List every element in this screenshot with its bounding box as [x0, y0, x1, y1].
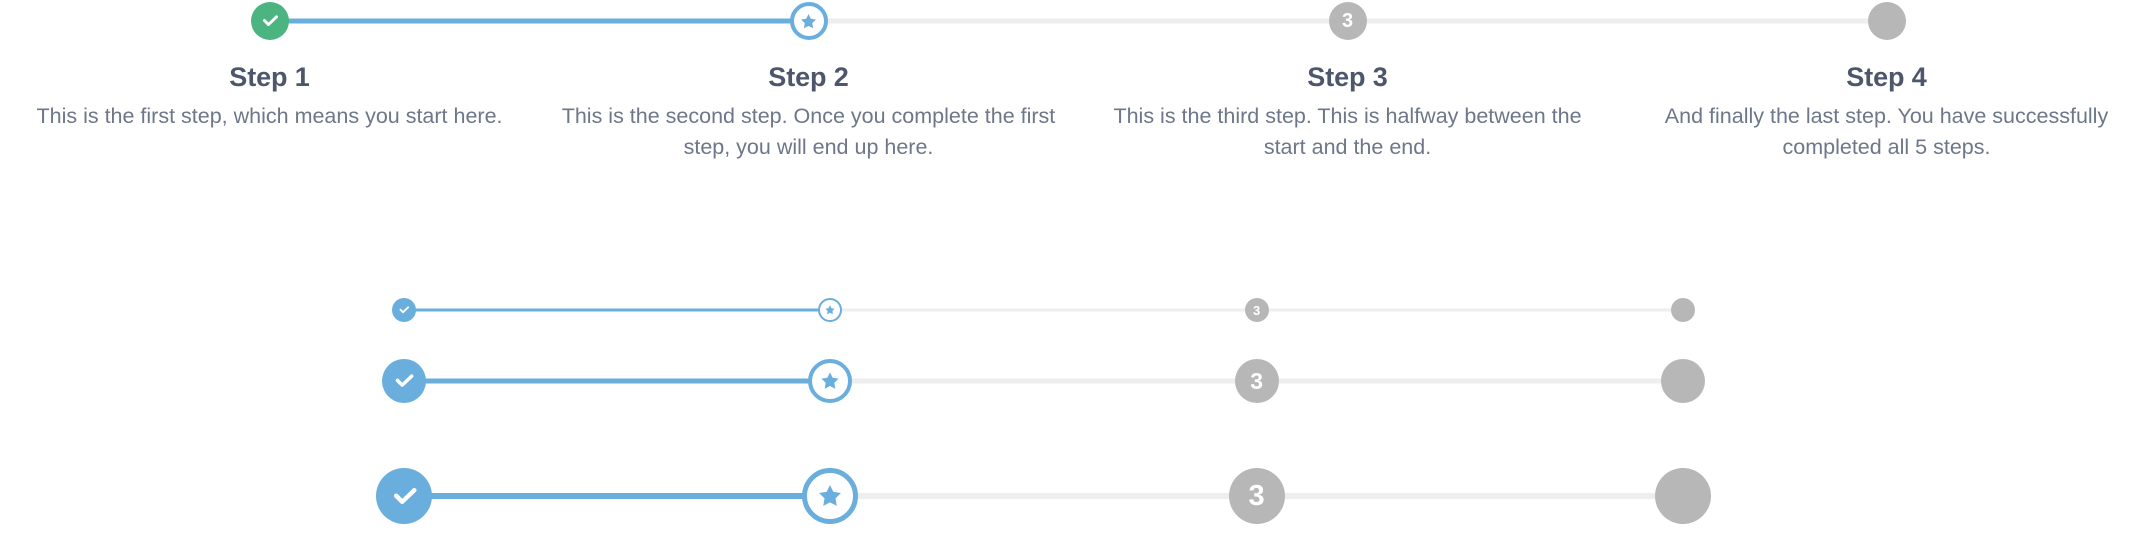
connector-right — [1257, 493, 1470, 499]
connector-left — [1044, 493, 1257, 499]
step-description: This is the first step, which means you … — [14, 101, 525, 132]
step-marker-row — [1470, 466, 1896, 526]
step-number-label: 3 — [1342, 11, 1353, 31]
step-item-1[interactable] — [191, 297, 617, 323]
step-description: This is the third step. This is halfway … — [1092, 101, 1603, 162]
step-labels: Step 2 This is the second step. Once you… — [539, 42, 1078, 162]
check-icon — [397, 303, 411, 317]
step-marker-complete[interactable] — [376, 468, 432, 524]
step-labels: Step 4 And finally the last step. You ha… — [1617, 42, 2156, 162]
connector-left — [1617, 19, 1887, 24]
step-marker-row — [617, 466, 1043, 526]
step-marker-row — [1470, 297, 1896, 323]
connector-right — [1257, 379, 1470, 384]
connector-left — [1470, 379, 1683, 384]
check-icon — [259, 10, 281, 32]
step-description: This is the second step. Once you comple… — [553, 101, 1064, 162]
xs-stepper: 3 — [191, 297, 1896, 323]
step-number-label: 3 — [1250, 370, 1263, 393]
step-item-1[interactable]: Step 1 This is the first step, which mea… — [0, 0, 539, 132]
star-icon — [819, 370, 841, 392]
connector-right — [809, 19, 1079, 24]
step-marker-row — [1470, 357, 1896, 405]
step-marker-dot[interactable] — [1868, 2, 1906, 40]
connector-right — [830, 379, 1043, 384]
step-labels: Step 3 This is the third step. This is h… — [1078, 42, 1617, 162]
step-item-2[interactable] — [617, 357, 1043, 405]
step-item-3[interactable]: 3 — [1044, 297, 1470, 323]
step-number-label: 3 — [1253, 304, 1260, 317]
connector-right — [830, 309, 1043, 312]
step-marker-current[interactable] — [818, 298, 842, 322]
step-marker-dot[interactable] — [1655, 468, 1711, 524]
labeled-stepper: Step 1 This is the first step, which mea… — [0, 0, 2156, 162]
step-item-3[interactable]: 3 Step 3 This is the third step. This is… — [1078, 0, 1617, 162]
step-marker-number[interactable]: 3 — [1235, 359, 1279, 403]
step-marker-row — [0, 0, 539, 42]
step-marker-row: 3 — [1044, 357, 1470, 405]
step-marker-complete[interactable] — [392, 298, 416, 322]
stepper-showcase: Step 1 This is the first step, which mea… — [0, 0, 2156, 560]
connector-left — [1078, 19, 1348, 24]
step-marker-row — [191, 297, 617, 323]
step-item-1[interactable] — [191, 466, 617, 526]
step-marker-row — [617, 297, 1043, 323]
step-item-2[interactable]: Step 2 This is the second step. Once you… — [539, 0, 1078, 162]
connector-left — [1044, 309, 1257, 312]
step-item-4[interactable] — [1470, 357, 1896, 405]
step-marker-dot[interactable] — [1661, 359, 1705, 403]
connector-left — [617, 309, 830, 312]
step-marker-row — [539, 0, 1078, 42]
step-marker-complete[interactable] — [251, 2, 289, 40]
step-marker-current[interactable] — [808, 359, 852, 403]
step-title: Step 2 — [553, 62, 1064, 93]
step-item-2[interactable] — [617, 466, 1043, 526]
step-marker-number[interactable]: 3 — [1245, 298, 1269, 322]
step-marker-row: 3 — [1044, 466, 1470, 526]
star-icon — [824, 304, 836, 316]
step-marker-row: 3 — [1078, 0, 1617, 42]
connector-right — [830, 493, 1043, 499]
step-item-4[interactable]: Step 4 And finally the last step. You ha… — [1617, 0, 2156, 162]
connector-right — [270, 19, 540, 24]
step-marker-number[interactable]: 3 — [1329, 2, 1367, 40]
connector-left — [1470, 493, 1683, 499]
connector-left — [1470, 309, 1683, 312]
lg-stepper: 3 — [191, 466, 1896, 526]
md-stepper: 3 — [191, 357, 1896, 405]
check-icon — [388, 480, 421, 513]
step-marker-row: 3 — [1044, 297, 1470, 323]
step-description: And finally the last step. You have succ… — [1631, 101, 2142, 162]
step-title: Step 1 — [14, 62, 525, 93]
connector-right — [1257, 309, 1470, 312]
step-item-4[interactable] — [1470, 297, 1896, 323]
connector-right — [404, 493, 617, 499]
connector-left — [539, 19, 809, 24]
step-item-2[interactable] — [617, 297, 1043, 323]
star-icon — [816, 482, 844, 510]
connector-right — [404, 379, 617, 384]
check-icon — [391, 368, 417, 394]
step-marker-number[interactable]: 3 — [1229, 468, 1285, 524]
step-item-1[interactable] — [191, 357, 617, 405]
step-labels: Step 1 This is the first step, which mea… — [0, 42, 539, 132]
step-marker-row — [1617, 0, 2156, 42]
step-marker-dot[interactable] — [1671, 298, 1695, 322]
step-number-label: 3 — [1249, 482, 1265, 511]
step-item-3[interactable]: 3 — [1044, 357, 1470, 405]
connector-left — [617, 379, 830, 384]
connector-left — [617, 493, 830, 499]
step-item-3[interactable]: 3 — [1044, 466, 1470, 526]
connector-right — [1348, 19, 1618, 24]
step-marker-current[interactable] — [802, 468, 858, 524]
connector-right — [404, 309, 617, 312]
step-marker-complete[interactable] — [382, 359, 426, 403]
step-item-4[interactable] — [1470, 466, 1896, 526]
step-marker-row — [191, 466, 617, 526]
step-title: Step 3 — [1092, 62, 1603, 93]
step-title: Step 4 — [1631, 62, 2142, 93]
step-marker-row — [191, 357, 617, 405]
step-marker-current[interactable] — [790, 2, 828, 40]
connector-left — [1044, 379, 1257, 384]
step-marker-row — [617, 357, 1043, 405]
star-icon — [799, 12, 818, 31]
